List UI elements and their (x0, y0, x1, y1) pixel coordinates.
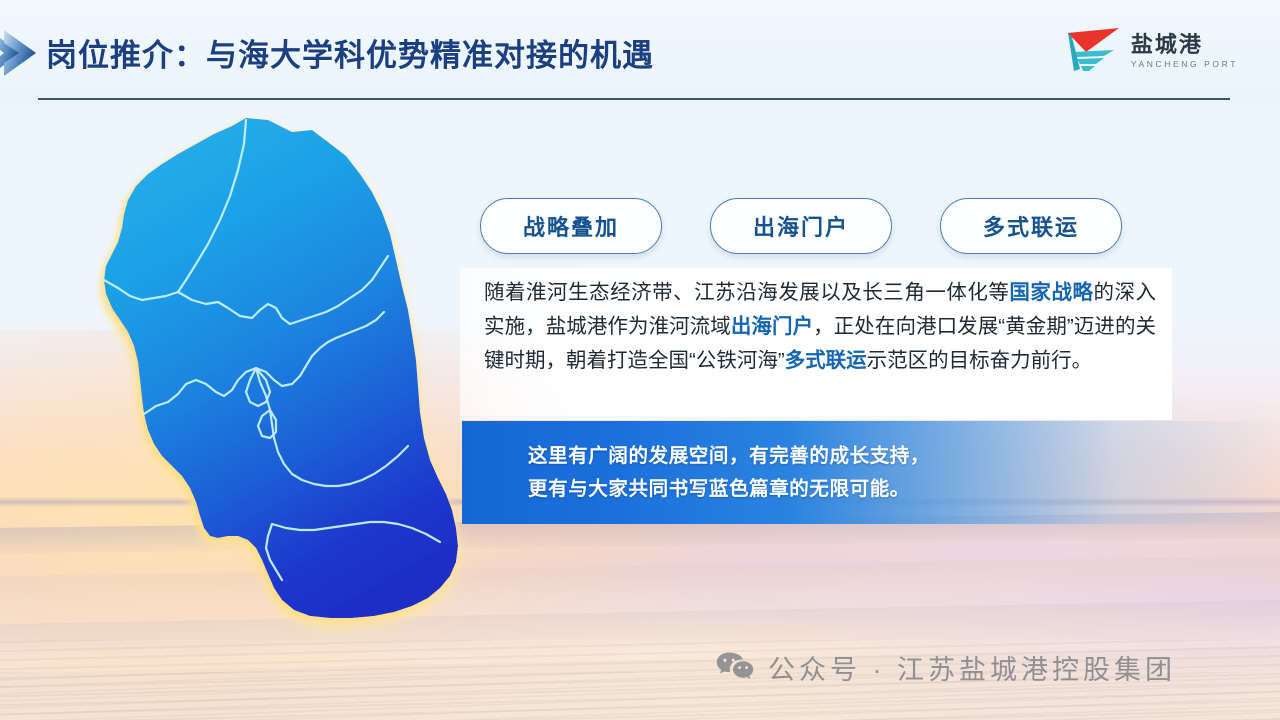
brand-name-cn: 盐城港 (1131, 34, 1238, 56)
pill-strategy-overlay[interactable]: 战略叠加 (480, 198, 662, 254)
yancheng-port-sail-icon (1064, 25, 1122, 77)
chevron-right-icon (0, 22, 52, 84)
watermark-text: 公众号 · 江苏盐城港控股集团 (768, 648, 1176, 687)
page-title: 岗位推介：与海大学科优势精准对接的机遇 (46, 30, 654, 75)
para-highlight-multimodal: 多式联运 (785, 349, 867, 372)
brand-logo: 盐城港 YANCHENG PORT (1064, 22, 1238, 80)
brand-name-en: YANCHENG PORT (1131, 60, 1238, 69)
wechat-icon (716, 651, 754, 685)
pill-sea-gateway[interactable]: 出海门户 (710, 198, 892, 254)
keyword-pill-row: 战略叠加 出海门户 多式联运 (480, 198, 1122, 254)
para-highlight-national-strategy: 国家战略 (1009, 281, 1093, 304)
title-divider (38, 98, 1230, 100)
para-segment: 示范区的目标奋力前行。 (867, 349, 1093, 372)
callout-text: 这里有广阔的发展空间，有完善的成长支持， 更有与大家共同书写蓝色篇章的无限可能。 (528, 440, 1088, 506)
callout-line-2: 更有与大家共同书写蓝色篇章的无限可能。 (528, 473, 1088, 506)
body-paragraph: 随着淮河生态经济带、江苏沿海发展以及长三角一体化等国家战略的深入实施，盐城港作为… (484, 276, 1156, 378)
wechat-watermark: 公众号 · 江苏盐城港控股集团 (716, 648, 1176, 687)
para-highlight-sea-gateway: 出海门户 (731, 315, 813, 338)
callout-line-1: 这里有广阔的发展空间，有完善的成长支持， (528, 440, 1088, 473)
para-segment: 随着淮河生态经济带、江苏沿海发展以及长三角一体化等 (484, 281, 1009, 304)
pill-multimodal-transport[interactable]: 多式联运 (940, 198, 1122, 254)
brand-wordmark: 盐城港 YANCHENG PORT (1131, 34, 1238, 69)
slide-canvas: 岗位推介：与海大学科优势精准对接的机遇 盐城港 YANCHENG PORT (0, 0, 1280, 720)
